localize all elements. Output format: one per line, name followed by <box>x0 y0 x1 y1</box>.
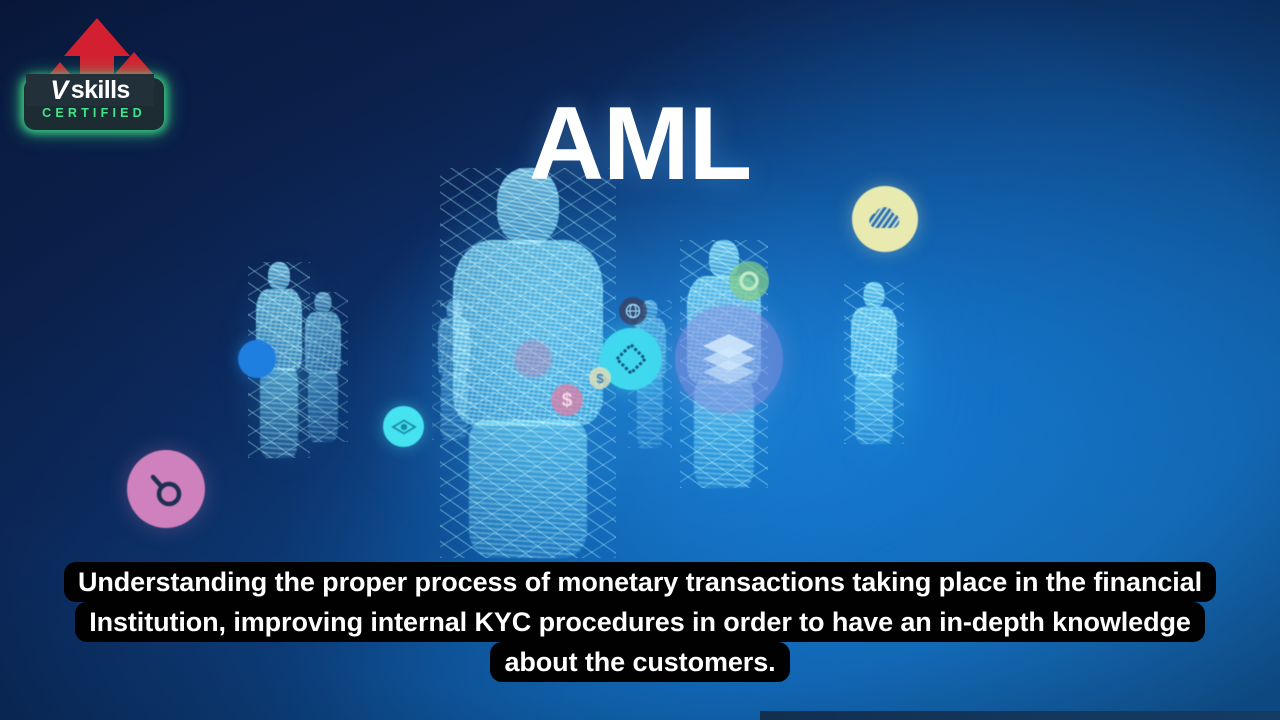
hologram-figure-right <box>844 282 904 444</box>
eye-icon <box>383 406 424 447</box>
caption-block: Understanding the proper process of mone… <box>0 562 1280 682</box>
layers-icon <box>675 305 783 413</box>
ring-icon <box>729 261 769 301</box>
dollar-icon: $ <box>551 384 583 416</box>
coin-icon: $ <box>589 367 611 389</box>
globe-icon <box>619 297 647 325</box>
caption-line: about the customers. <box>490 642 789 682</box>
hologram-figure-left2 <box>298 292 348 442</box>
caption-line: Understanding the proper process of mone… <box>64 562 1216 602</box>
faint-circle-icon <box>514 340 552 378</box>
dollar-glyph: $ <box>562 391 573 410</box>
coin-glyph: $ <box>596 372 603 385</box>
page-title: AML <box>0 92 1280 196</box>
dot-icon <box>238 340 276 378</box>
caption-line: Institution, improving internal KYC proc… <box>75 602 1205 642</box>
bottom-strip <box>760 711 1280 720</box>
video-frame: $ $ V skills CERTIFIED AML <box>0 0 1280 720</box>
search-icon <box>127 450 205 528</box>
